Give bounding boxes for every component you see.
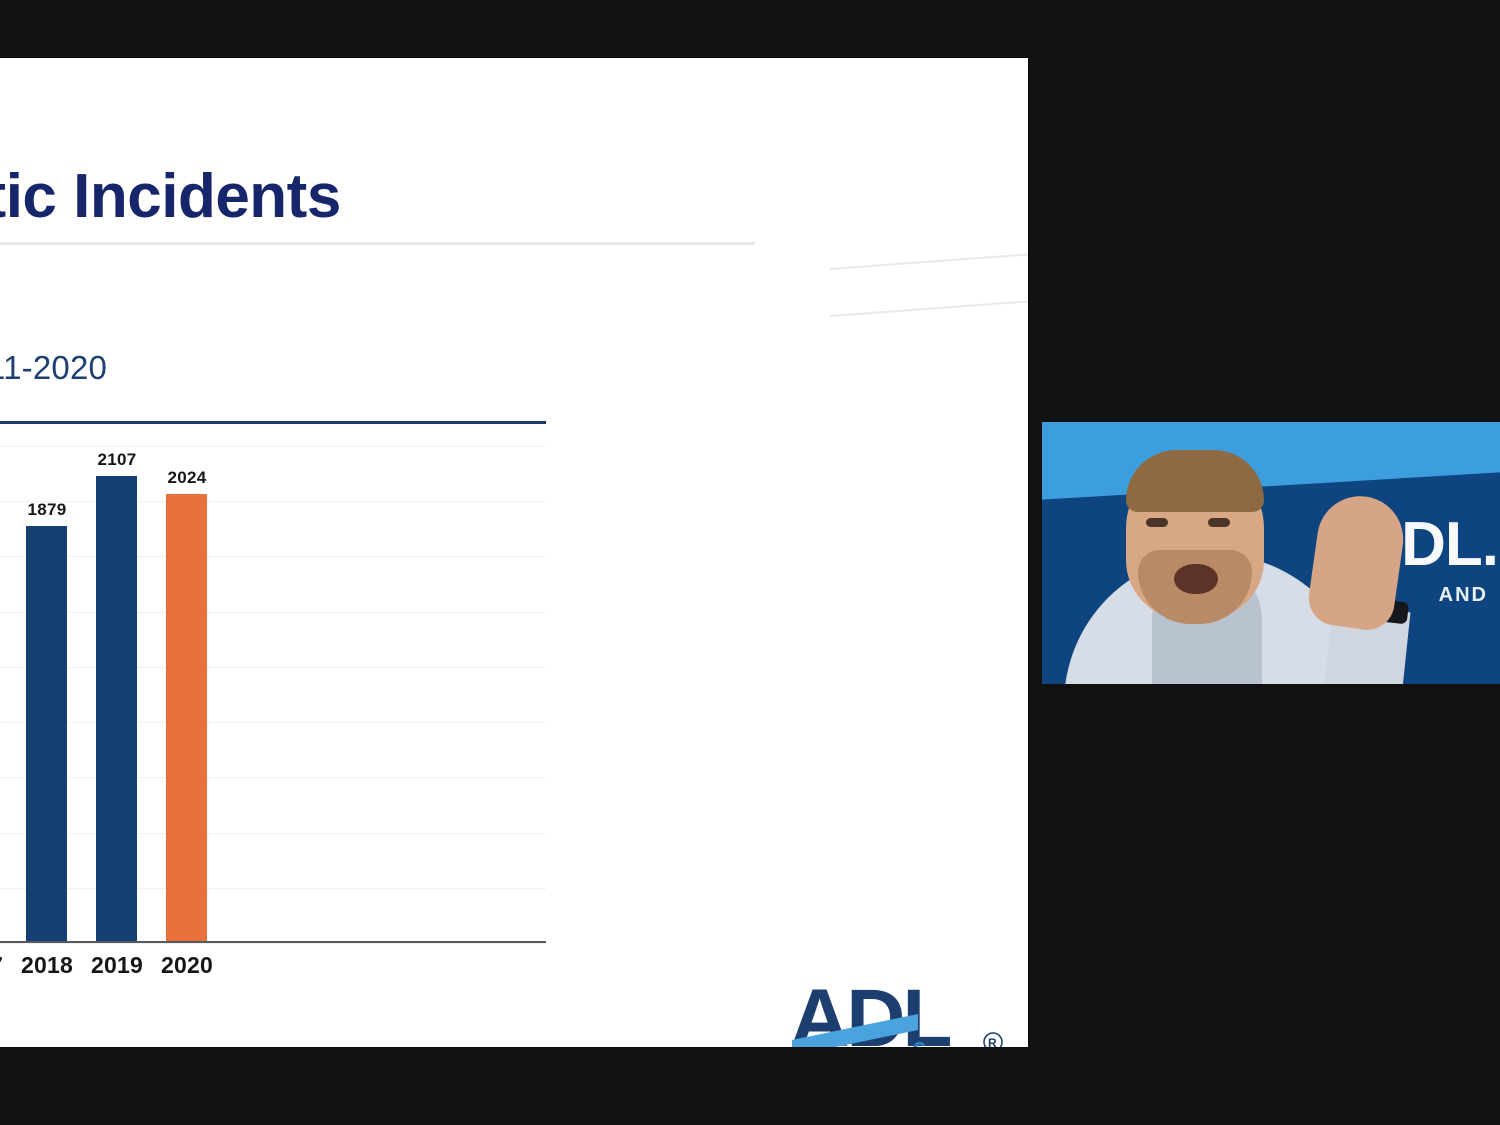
x-axis-label: 2017 bbox=[0, 952, 12, 979]
webcam-backdrop-sublabel: AND bbox=[1439, 584, 1488, 607]
chart-heading-divider bbox=[0, 421, 546, 424]
participant-hair bbox=[1126, 450, 1264, 512]
chart-heading-line1: cidents: U.S. bbox=[0, 315, 107, 346]
bar bbox=[166, 494, 207, 941]
svg-text:6: 6 bbox=[912, 1036, 926, 1047]
bar-group: 1986 bbox=[0, 446, 12, 941]
bar-group: 1879 bbox=[12, 446, 82, 941]
svg-text:R: R bbox=[988, 1036, 997, 1047]
bar bbox=[26, 526, 67, 941]
decorative-line-top bbox=[830, 253, 1028, 270]
presentation-slide: ntisemitic Incidents cidents: U.S. st De… bbox=[0, 58, 1028, 1047]
participant-mouth bbox=[1174, 564, 1218, 594]
chart-x-axis-labels: 20132014201520162017201820192020 bbox=[0, 946, 546, 988]
chart-x-axis bbox=[0, 941, 546, 943]
participant-eye-right bbox=[1208, 518, 1230, 527]
screen-share-stage: ntisemitic Incidents cidents: U.S. st De… bbox=[0, 0, 1500, 1125]
chart-plot-area: 75191294212671986187921072024 bbox=[0, 446, 546, 943]
bar-group: 2107 bbox=[82, 446, 152, 941]
bar-value-label: 1879 bbox=[12, 500, 82, 520]
bar-value-label: 2107 bbox=[82, 450, 152, 470]
bar-value-label: 1986 bbox=[0, 476, 12, 496]
title-divider bbox=[0, 242, 755, 245]
chart-heading: cidents: U.S. st Decade | 2011-2020 bbox=[0, 315, 107, 387]
participant-eye-left bbox=[1146, 518, 1168, 527]
x-axis-label: 2020 bbox=[152, 952, 222, 979]
chart-bars: 75191294212671986187921072024 bbox=[0, 446, 546, 941]
bar-value-label: 2024 bbox=[152, 468, 222, 488]
adl-logo: ADL 6 R bbox=[790, 974, 1010, 1047]
x-axis-label: 2019 bbox=[82, 952, 152, 979]
decorative-line-bottom bbox=[830, 300, 1028, 317]
bar-chart: 75191294212671986187921072024 2013201420… bbox=[0, 446, 546, 988]
webcam-backdrop-logo: DL. bbox=[1401, 514, 1498, 576]
bar bbox=[96, 476, 137, 941]
gridline bbox=[0, 943, 546, 944]
bar-group: 2024 bbox=[152, 446, 222, 941]
webcam-video-tile[interactable]: DL. AND bbox=[1042, 422, 1500, 684]
x-axis-label: 2018 bbox=[12, 952, 82, 979]
chart-heading-line2: st Decade | 2011-2020 bbox=[0, 350, 107, 387]
slide-title: ntisemitic Incidents bbox=[0, 166, 341, 228]
